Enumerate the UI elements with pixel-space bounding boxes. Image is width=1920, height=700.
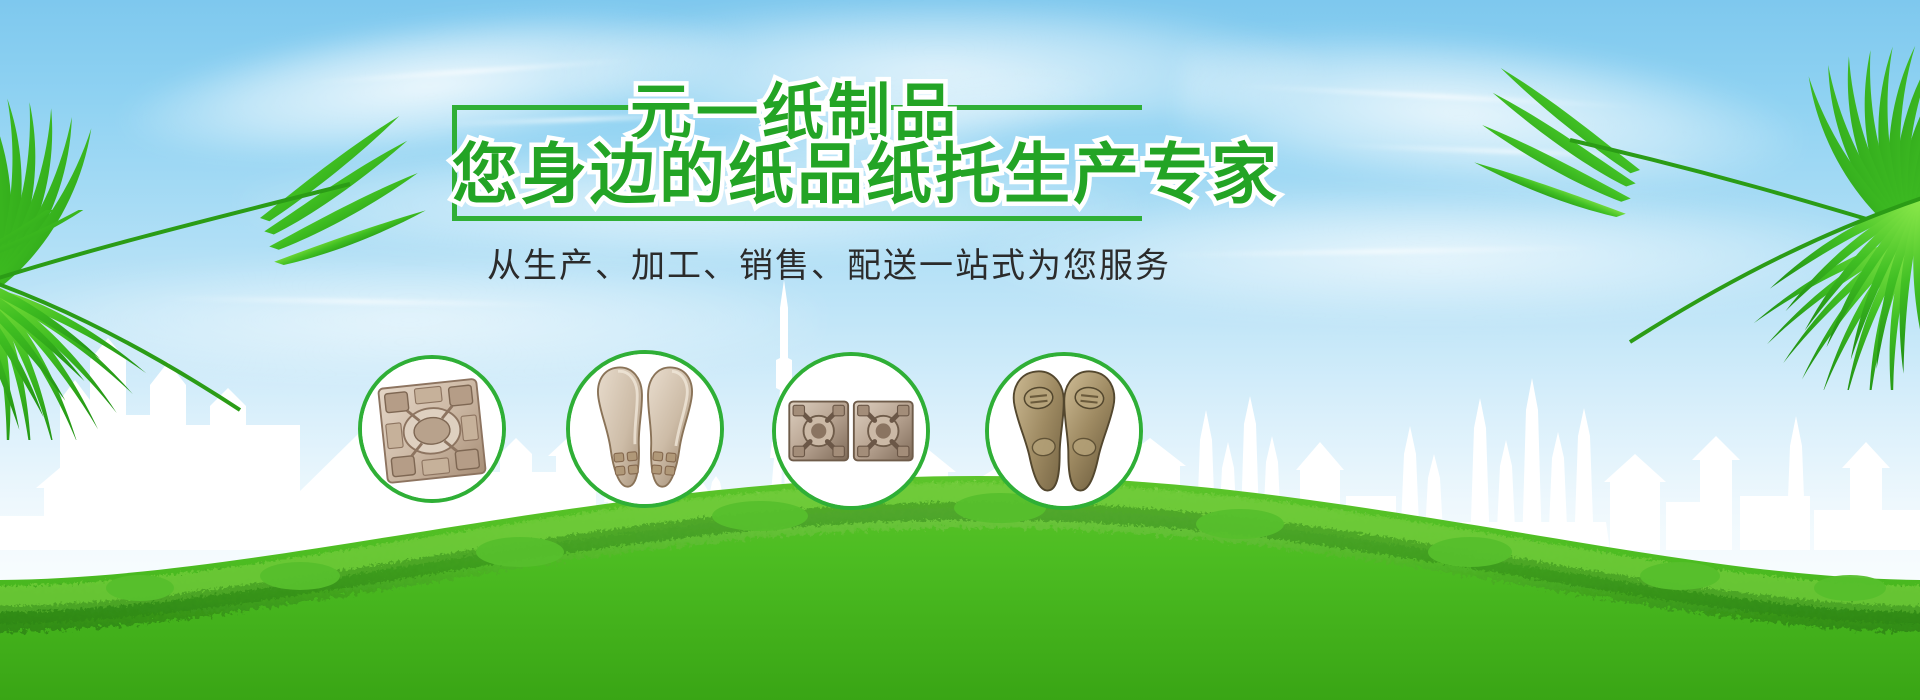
page-subtitle: 您身边的纸品纸托生产专家 [452, 142, 1280, 208]
page-title: 元一纸制品 [630, 82, 960, 144]
product-thumbnail-4[interactable] [985, 352, 1143, 510]
promo-banner: 元一纸制品 您身边的纸品纸托生产专家 从生产、加工、销售、配送一站式为您服务 [0, 0, 1920, 700]
molded-pulp-insole-pair-icon [570, 354, 720, 504]
molded-pulp-square-tray-icon [362, 359, 502, 499]
product-thumbnail-2[interactable] [566, 350, 724, 508]
headline-block: 元一纸制品 您身边的纸品纸托生产专家 从生产、加工、销售、配送一站式为您服务 [0, 0, 1920, 340]
green-grass-hill [0, 400, 1920, 700]
tagline: 从生产、加工、销售、配送一站式为您服务 [487, 238, 1171, 287]
product-thumbnail-1[interactable] [358, 355, 506, 503]
molded-pulp-shoe-tree-pair-icon [989, 356, 1139, 506]
product-thumbnail-3[interactable] [772, 352, 930, 510]
molded-pulp-corner-pair-icon [776, 356, 926, 506]
